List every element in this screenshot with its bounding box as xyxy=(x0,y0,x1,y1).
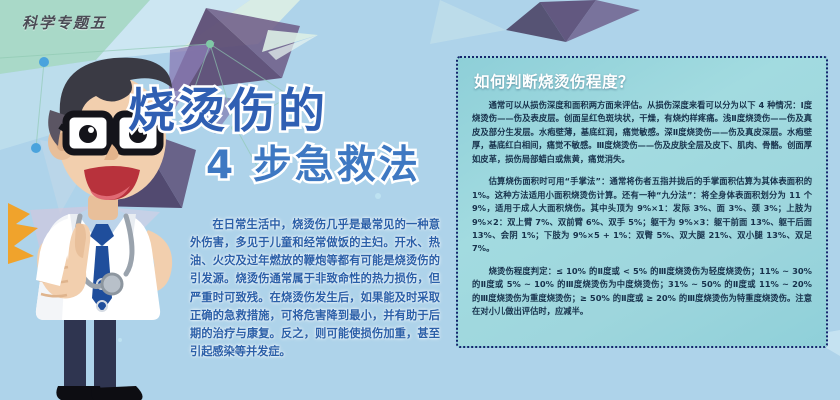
eye-left xyxy=(79,125,97,143)
shoe-right xyxy=(91,386,142,400)
intro-text-block: 在日常生活中，烧烫伤几乎是最常见的一种意外伤害，多见于儿童和经常做饭的主妇。开水… xyxy=(190,216,440,361)
info-paragraph-area: 估算烧伤面积时可用“手掌法”：通常将伤者五指并拢后的手掌面积估算为其体表面积的 … xyxy=(472,175,812,256)
info-paragraph-depth: 通常可以从损伤深度和面积两方面来评估。从损伤深度来看可以分为以下 4 种情况：Ⅰ… xyxy=(472,99,812,166)
info-panel: 如何判断烧烫伤程度？ 通常可以从损伤深度和面积两方面来评估。从损伤深度来看可以分… xyxy=(456,56,828,348)
info-paragraph-severity: 烧烫伤程度判定：≤ 10% 的Ⅱ度或 < 5% 的Ⅲ度烧烫伤为轻度烧烫伤；11%… xyxy=(472,265,812,319)
spark-burst xyxy=(8,203,38,264)
poster-canvas: 科学专题五 xyxy=(0,0,840,400)
info-panel-title: 如何判断烧烫伤程度？ xyxy=(474,70,812,92)
headline-group: 烧烫伤的 4 步急救法 xyxy=(128,88,421,185)
intro-paragraph: 在日常生活中，烧烫伤几乎是最常见的一种意外伤害，多见于儿童和经常做饭的主妇。开水… xyxy=(190,216,440,361)
stethoscope-chestpiece xyxy=(102,274,122,294)
doctor-figure xyxy=(8,18,198,400)
page-subtitle: 4 步急救法 xyxy=(206,146,421,185)
topic-tag: 科学专题五 xyxy=(22,12,107,33)
page-title: 烧烫伤的 xyxy=(128,88,421,135)
doctor-illustration xyxy=(8,18,198,400)
